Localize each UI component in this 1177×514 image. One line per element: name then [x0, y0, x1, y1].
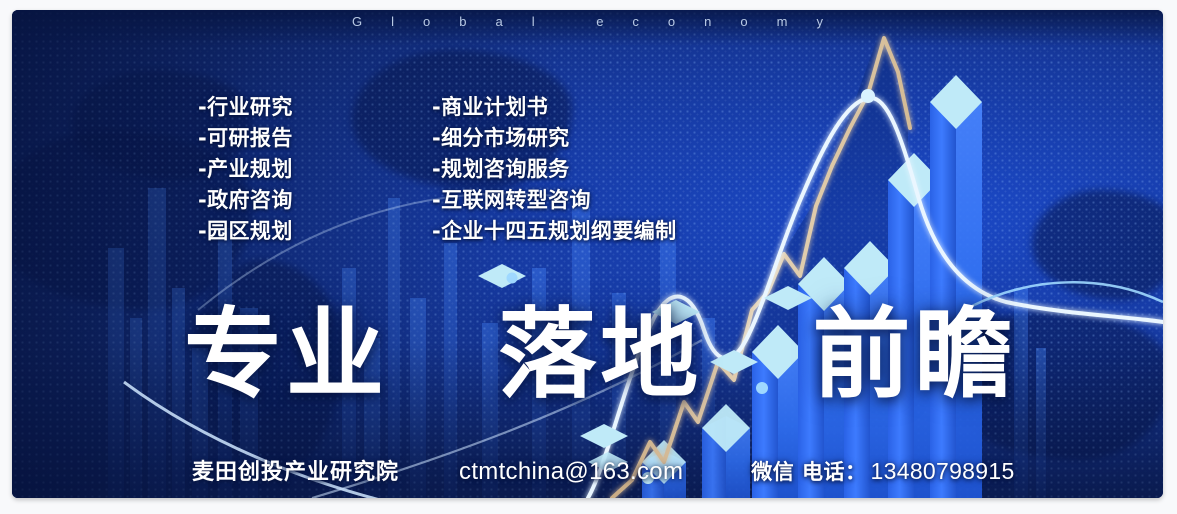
- promo-banner: Global economy -行业研究 -可研报告 -产业规划 -政府咨询 -…: [12, 10, 1163, 498]
- service-item: -政府咨询: [198, 185, 293, 216]
- headline-word-3: 前瞻: [813, 304, 1017, 406]
- service-item: -互联网转型咨询: [432, 185, 677, 216]
- service-item: -规划咨询服务: [432, 154, 677, 185]
- headline-word-2: 落地: [498, 304, 702, 406]
- service-item: -行业研究: [198, 92, 293, 123]
- headline: 专业 落地 前瞻: [184, 304, 1017, 406]
- footer-contact-bar: 麦田创投产业研究院 ctmtchina@163.com 微信 电话： 13480…: [192, 454, 1015, 486]
- top-label: Global economy: [12, 14, 1163, 29]
- email-address[interactable]: ctmtchina@163.com: [459, 458, 683, 486]
- service-item: -产业规划: [198, 154, 293, 185]
- service-item: -企业十四五规划纲要编制: [432, 216, 677, 247]
- chart-svg: [12, 10, 1163, 498]
- growth-chart-illustration: [12, 10, 1163, 498]
- service-item: -细分市场研究: [432, 123, 677, 154]
- organization-name: 麦田创投产业研究院: [192, 454, 399, 486]
- screenshot-root: Global economy -行业研究 -可研报告 -产业规划 -政府咨询 -…: [0, 0, 1177, 514]
- service-item: -商业计划书: [432, 92, 677, 123]
- phone-number[interactable]: 13480798915: [871, 458, 1015, 485]
- services-column-right: -商业计划书 -细分市场研究 -规划咨询服务 -互联网转型咨询 -企业十四五规划…: [432, 92, 677, 247]
- service-item: -可研报告: [198, 123, 293, 154]
- contact-label: 微信 电话：: [751, 456, 866, 486]
- service-item: -园区规划: [198, 216, 293, 247]
- headline-word-1: 专业: [184, 304, 388, 406]
- services-column-left: -行业研究 -可研报告 -产业规划 -政府咨询 -园区规划: [198, 92, 293, 247]
